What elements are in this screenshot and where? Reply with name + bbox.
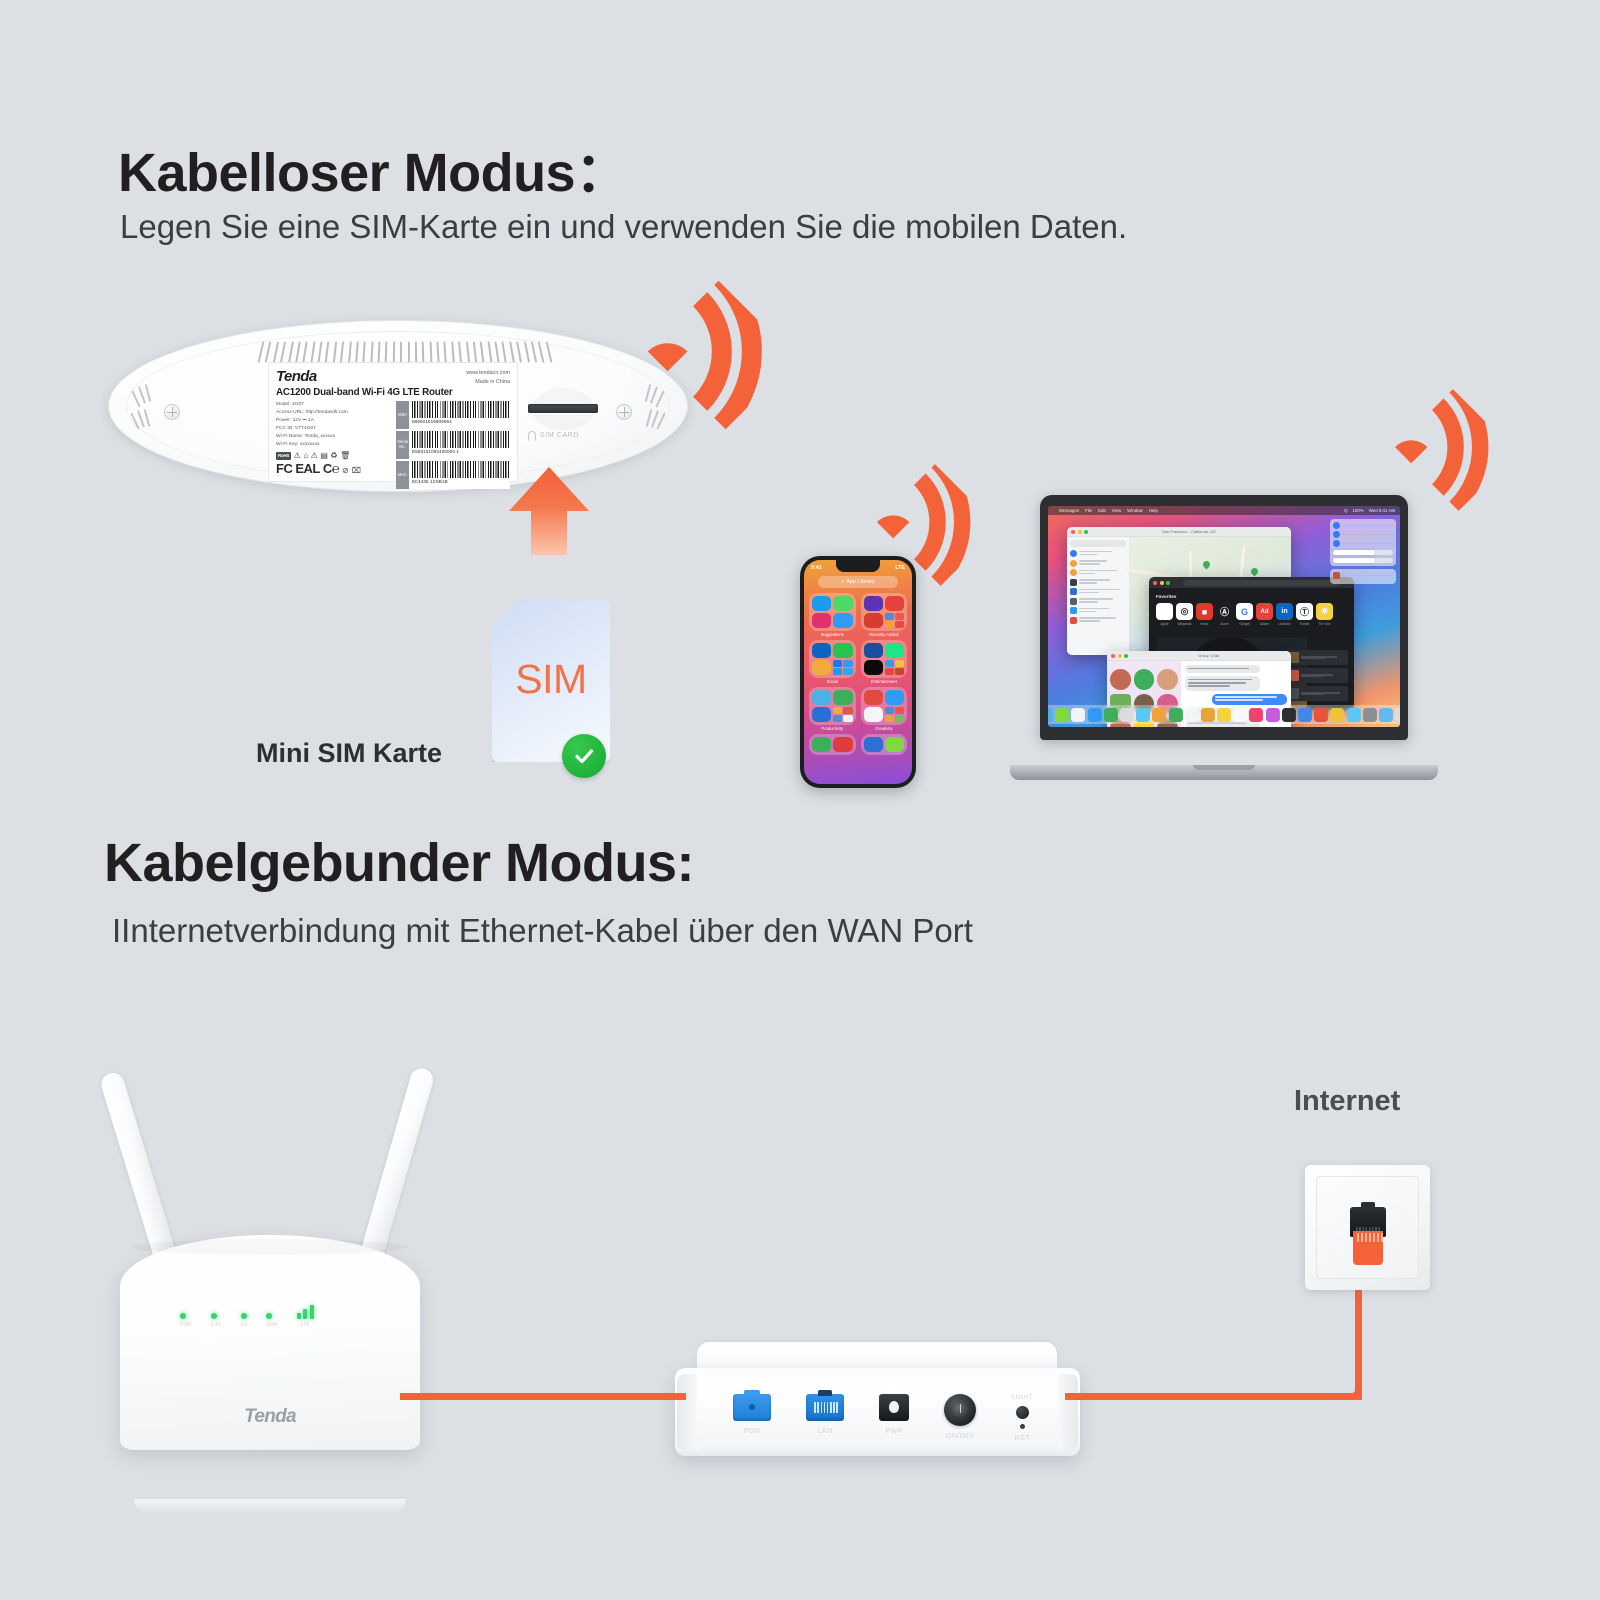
favorite-glyph: Ⓐ [1216, 603, 1233, 620]
app-group[interactable] [809, 640, 856, 678]
app-icon[interactable] [864, 643, 883, 658]
maps-sidebar[interactable] [1067, 537, 1129, 655]
window-title: Group Chat [1198, 653, 1219, 658]
led-indicator-wan: WAN [266, 1313, 277, 1328]
menubar-item-edit[interactable]: Edit [1098, 508, 1106, 513]
barcode-number: 8C4435 1C6B1B [412, 479, 510, 484]
favorite-glyph: ■ [1196, 603, 1213, 620]
dock-icon-messages[interactable] [1104, 708, 1118, 722]
search-icon: ⌕ [841, 579, 844, 586]
app-folder-icon[interactable] [885, 660, 904, 675]
app-folder-icon[interactable] [885, 707, 904, 722]
maps-list-item[interactable] [1070, 598, 1126, 605]
router-4g-brand: Tenda [120, 1406, 420, 1428]
label-barcode-group: IMEI 869601016809654 Serial No. E5591010… [396, 401, 510, 491]
app-group-caption: Productivity [809, 726, 856, 731]
app-icon[interactable] [812, 613, 831, 628]
favorite-glyph: G [1236, 603, 1253, 620]
battery-indicator[interactable]: 100% [1352, 508, 1363, 513]
app-icon[interactable] [833, 643, 852, 658]
router-vent-top [257, 342, 552, 363]
eac-mark-icon: EAL [295, 462, 320, 475]
infographic-stage: Kabelloser Modus： Legen Sie eine SIM-Kar… [0, 0, 1600, 1600]
dock-icon-music[interactable] [1249, 708, 1263, 722]
router-screw-left [164, 404, 180, 420]
dock-icon-reminders[interactable] [1201, 708, 1215, 722]
dock-icon-appstore[interactable] [1298, 708, 1312, 722]
phone-status-indicators: LTE [895, 565, 905, 571]
led-indicator-power: PWR [180, 1313, 192, 1328]
control-center-card[interactable] [1330, 519, 1396, 566]
barcode-row: Serial No. E559101092400000 1 [396, 431, 510, 459]
favorite-tile[interactable]: ⓉTumblr [1296, 603, 1313, 626]
barcode-body: E559101092400000 1 [409, 431, 510, 459]
app-icon[interactable] [864, 596, 883, 611]
dock-icon-finder[interactable] [1048, 708, 1053, 722]
map-pin-icon[interactable] [1250, 567, 1260, 577]
maps-list-item[interactable] [1070, 579, 1126, 586]
label-spec-power: Power: 12V ⎓ 1A [276, 417, 392, 425]
control-toggle-airdrop[interactable] [1333, 540, 1393, 547]
router-vent-left [134, 386, 160, 438]
app-library-row: Suggestions Recently Added [809, 593, 907, 637]
app-icon[interactable] [885, 737, 904, 752]
phone-status-time: 9:41 [811, 565, 822, 571]
dock-icon-pages[interactable] [1330, 708, 1344, 722]
smartphone-device: 9:41 LTE ⌕ App Library Sugges [800, 556, 916, 788]
power-jack-icon[interactable] [879, 1394, 909, 1421]
maps-list-item[interactable] [1070, 607, 1126, 614]
control-toggle-wifi[interactable] [1333, 522, 1393, 529]
favorite-tile[interactable]: ■News [1196, 603, 1213, 626]
app-icon[interactable] [812, 596, 831, 611]
led-label: 2.4G [211, 1322, 222, 1328]
signal-strength-icon [297, 1305, 314, 1319]
favorite-tile[interactable]: Apple [1156, 603, 1173, 626]
router-top-highlight [132, 1239, 408, 1255]
label-spec-fccid: FCC ID: V7T4G07 [276, 425, 392, 433]
maps-list-item[interactable] [1070, 569, 1126, 576]
barcode-body: 869601016809654 [409, 401, 510, 429]
dock-icon-safari[interactable] [1071, 708, 1085, 722]
label-product-title: AC1200 Dual-band Wi-Fi 4G LTE Router [276, 387, 510, 398]
barcode-tag: MAC [396, 461, 409, 489]
app-library-search-placeholder: App Library [846, 579, 875, 585]
dock-icon-facetime[interactable] [1152, 708, 1166, 722]
macos-dock[interactable] [1048, 705, 1400, 724]
maps-search-input[interactable] [1070, 540, 1126, 547]
label-spec-list: Model: 4G07 Access URL: http://tendawifi… [276, 401, 392, 491]
barcode-bars [412, 431, 510, 448]
maps-list-item[interactable] [1070, 560, 1126, 567]
ce-mark-icon: C℮ [323, 462, 339, 475]
sim-card-caption: Mini SIM Karte [256, 738, 442, 769]
window-titlebar[interactable]: San Francisco - California, US [1067, 527, 1291, 537]
ont-bevel-right [1058, 1374, 1078, 1450]
app-group-wrap[interactable]: Productivity [809, 687, 856, 731]
house-icon: ⌂ [303, 452, 308, 460]
favorite-glyph: Ad [1256, 603, 1273, 620]
label-spec-wifikey: Wi-Fi Key: xxxxxxxx [276, 441, 392, 449]
favorite-name: Wikipedia [1176, 622, 1193, 626]
now-playing-row[interactable] [1333, 572, 1393, 579]
favorite-glyph: in [1276, 603, 1293, 620]
favorite-name: Acme [1216, 622, 1233, 626]
app-icon[interactable] [812, 737, 831, 752]
dock-icon-podcasts[interactable] [1266, 708, 1280, 722]
sim-eject-pin-icon [528, 431, 536, 441]
plug-pins-icon [1357, 1233, 1383, 1242]
router-vent-right [636, 386, 662, 438]
reset-pinhole-icon[interactable] [1020, 1424, 1025, 1429]
app-icon[interactable] [833, 596, 852, 611]
barcode-row: MAC 8C4435 1C6B1B [396, 461, 510, 489]
dock-icon-launchpad[interactable] [1055, 708, 1069, 722]
display-brightness-slider[interactable] [1333, 550, 1393, 555]
favorite-glyph: Ⓣ [1296, 603, 1313, 620]
barcode-number: 869601016809654 [412, 419, 510, 424]
ethernet-plug[interactable] [1353, 1231, 1383, 1265]
app-icon[interactable] [885, 643, 904, 658]
ont-bevel-left [677, 1374, 697, 1450]
certification-icons-row-1: RoHS ⚠ ⌂ ⚠ ▤ ♻ 🗑 [276, 452, 392, 460]
router-product-label: Tenda www.tendacn.com Made in China AC12… [268, 362, 518, 482]
wired-mode-heading: Kabelgebunder Modus: [104, 832, 694, 894]
window-title: San Francisco - California, US [1162, 529, 1216, 534]
sim-insert-arrow-icon [505, 465, 593, 555]
port-power[interactable]: PWR [879, 1394, 909, 1435]
router-bottom-shell-view: SIM CARD Tenda www.tendacn.com Made in C… [108, 320, 688, 492]
favorite-tile[interactable]: ◎Wikipedia [1176, 603, 1193, 626]
menubar-item-view[interactable]: View [1112, 508, 1121, 513]
router-led-panel: PWR 2.4G 5G WAN LTE [180, 1305, 314, 1328]
led-indicator-24g: 2.4G [211, 1313, 222, 1328]
close-icon[interactable] [1111, 654, 1115, 658]
port-label: LAN [806, 1428, 844, 1435]
app-library-row: Productivity Creativity [809, 687, 907, 731]
favorite-name: Apple [1156, 622, 1173, 626]
app-group-wrap[interactable]: Recently Added [861, 593, 908, 637]
pon-port-icon[interactable] [733, 1394, 771, 1421]
label-origin: Made in China [466, 378, 510, 387]
app-group-wrap[interactable]: Suggestions [809, 593, 856, 637]
minimize-icon[interactable] [1118, 654, 1122, 658]
dock-icon-notes[interactable] [1217, 708, 1231, 722]
led-label: LTE [297, 1322, 314, 1328]
maps-list-item[interactable] [1070, 588, 1126, 595]
app-library-search-field[interactable]: ⌕ App Library [818, 576, 898, 588]
menubar-app-name[interactable]: Messages [1059, 508, 1079, 513]
light-button-icon[interactable] [1016, 1406, 1029, 1419]
manual-icon: ▤ [320, 452, 328, 460]
dock-icon-maps[interactable] [1120, 708, 1134, 722]
app-icon[interactable] [833, 690, 852, 705]
favorite-glyph [1156, 603, 1173, 620]
maps-list-item[interactable] [1070, 550, 1126, 557]
label-spec-url: Access URL: http://tendawifi.com [276, 409, 392, 417]
sim-slot-label: SIM CARD [540, 432, 579, 439]
ont-modem-device: PON LAN PWR ON/OFF LIGHT [675, 1342, 1080, 1487]
power-button-icon[interactable] [944, 1394, 976, 1426]
barcode-body: 8C4435 1C6B1B [409, 461, 510, 489]
barcode-number: E559101092400000 1 [412, 449, 510, 454]
certification-icons-row-2: FC EAL C℮ ⊘ ⌧ [276, 462, 392, 475]
favorite-tile[interactable]: GGoogle [1236, 603, 1253, 626]
phone-notch [836, 560, 880, 572]
dock-icon-downloads[interactable] [1379, 708, 1393, 722]
dock-icon-news[interactable] [1282, 708, 1296, 722]
favorite-name: Tumblr [1296, 622, 1313, 626]
laptop-lid: Messages File Edit View Window Help Q 10… [1040, 495, 1408, 740]
app-group[interactable] [861, 734, 908, 755]
dock-icon-numbers[interactable] [1314, 708, 1328, 722]
ont-front-panel: PON LAN PWR ON/OFF LIGHT [675, 1368, 1080, 1456]
app-icon[interactable] [812, 690, 831, 705]
app-group[interactable] [809, 687, 856, 725]
app-icon[interactable] [864, 690, 883, 705]
safari-favorites-row: Apple ◎Wikipedia ■News ⒶAcme GGoogle AdA… [1156, 603, 1347, 626]
label-website: www.tendacn.com [466, 369, 510, 378]
favorite-tile[interactable]: inLinkedIn [1276, 603, 1293, 626]
laptop-screen: Messages File Edit View Window Help Q 10… [1048, 506, 1400, 727]
favorite-tile[interactable]: ⒶAcme [1216, 603, 1233, 626]
app-group[interactable] [809, 593, 856, 631]
wall-ethernet-socket [1305, 1165, 1430, 1290]
app-icon[interactable] [812, 707, 831, 722]
port-pon[interactable]: PON [733, 1394, 771, 1435]
port-label: ON/OFF [944, 1433, 976, 1440]
weee-bin-icon: 🗑 [340, 452, 350, 460]
avatar[interactable] [1157, 669, 1178, 690]
dock-icon-trash[interactable] [1395, 708, 1400, 722]
safari-address-bar[interactable] [1183, 580, 1341, 586]
avatar[interactable] [1134, 669, 1155, 690]
port-label: RST [1015, 1435, 1030, 1442]
laptop-device: Messages File Edit View Window Help Q 10… [1010, 495, 1438, 780]
label-body: Model: 4G07 Access URL: http://tendawifi… [276, 401, 510, 491]
minimize-icon[interactable] [1078, 530, 1082, 534]
dock-icon-settings[interactable] [1363, 708, 1377, 722]
rohs-badge: RoHS [276, 452, 291, 460]
app-group[interactable] [861, 687, 908, 725]
favorite-name: News [1196, 622, 1213, 626]
led-label: 5G [241, 1322, 248, 1328]
port-label: PWR [879, 1428, 909, 1435]
maximize-icon[interactable] [1124, 654, 1128, 658]
laptop-base [1010, 765, 1438, 780]
barcode-row: IMEI 869601016809654 [396, 401, 510, 429]
control-toggle-bluetooth[interactable] [1333, 531, 1393, 538]
app-library-row: Social Entertainment [809, 640, 907, 684]
recycle-icon: ♻ [330, 452, 337, 460]
power-switch[interactable]: ON/OFF [944, 1394, 976, 1440]
rj45-port-icon[interactable] [806, 1394, 844, 1421]
spotlight-search-icon[interactable]: Q [1344, 508, 1347, 513]
router-sim-slot-area: SIM CARD [524, 388, 604, 460]
router-4g-body: PWR 2.4G 5G WAN LTE Tenda [120, 1235, 420, 1450]
maps-list-item[interactable] [1070, 617, 1126, 624]
app-icon[interactable] [885, 596, 904, 611]
ethernet-cable-modem-to-wall-horizontal [1065, 1393, 1362, 1400]
app-group-caption: Recently Added [861, 632, 908, 637]
app-icon[interactable] [833, 737, 852, 752]
avatar[interactable] [1110, 669, 1131, 690]
label-spec-wifiname: Wi-Fi Name: Tenda_xxxxxx [276, 433, 392, 441]
dock-icon-appletv[interactable] [1233, 708, 1247, 722]
safari-favorites-title: Favorites [1156, 594, 1347, 599]
wired-mode-subheading: IInternetverbindung mit Ethernet-Kabel ü… [112, 912, 973, 950]
wireless-mode-heading: Kabelloser Modus： [118, 128, 629, 207]
app-library-grid: Suggestions Recently Added [809, 593, 907, 782]
safari-toolbar[interactable] [1149, 577, 1354, 588]
router-4g-device: PWR 2.4G 5G WAN LTE Tenda [110, 1055, 430, 1505]
favorite-glyph: ◎ [1176, 603, 1193, 620]
message-bubble-incoming [1185, 665, 1260, 673]
dock-icon-mail[interactable] [1088, 708, 1102, 722]
light-button-label: LIGHT [1012, 1394, 1033, 1401]
favorite-name: Adobe [1256, 622, 1273, 626]
router-screw-right [616, 404, 632, 420]
close-icon[interactable] [1153, 581, 1157, 585]
app-group-wrap[interactable]: Entertainment [861, 640, 908, 684]
router-4g-base [134, 1499, 406, 1511]
led-label: WAN [266, 1322, 277, 1328]
app-group-caption: Social [809, 679, 856, 684]
sim-card-text: SIM [492, 656, 610, 703]
dock-icon-contacts[interactable] [1168, 708, 1182, 722]
app-folder-icon[interactable] [885, 613, 904, 628]
ont-port-row: PON LAN PWR ON/OFF LIGHT [733, 1394, 1033, 1442]
led-indicator-signal: LTE [297, 1305, 314, 1328]
volume-slider[interactable] [1333, 558, 1393, 563]
led-label: PWR [180, 1322, 192, 1328]
minimize-icon[interactable] [1160, 581, 1164, 585]
dock-icon-xcode[interactable] [1347, 708, 1361, 722]
app-group[interactable] [809, 734, 856, 755]
barcode-tag: Serial No. [396, 431, 409, 459]
app-group-wrap[interactable]: Creativity [861, 687, 908, 731]
caution-icon: ⚠ [311, 452, 318, 460]
favorite-tile[interactable]: AdAdobe [1256, 603, 1273, 626]
barcode-tag: IMEI [396, 401, 409, 429]
menubar-item-file[interactable]: File [1085, 508, 1092, 513]
app-icon[interactable] [864, 707, 883, 722]
app-group-caption: Creativity [861, 726, 908, 731]
message-bubble-incoming [1185, 676, 1260, 691]
app-group[interactable] [861, 593, 908, 631]
barcode-bars [412, 461, 510, 478]
antenna-right [357, 1066, 436, 1269]
sim-compatible-check-icon [562, 734, 606, 778]
sim-card-slot[interactable] [528, 404, 598, 413]
maximize-icon[interactable] [1166, 581, 1170, 585]
crossed-bin-icon: ⌧ [352, 467, 361, 475]
fcc-mark-icon: FC [276, 462, 292, 475]
wireless-mode-subheading: Legen Sie eine SIM-Karte ein und verwend… [120, 208, 1127, 246]
macos-menu-bar[interactable]: Messages File Edit View Window Help Q 10… [1048, 506, 1400, 515]
favorite-name: Google [1236, 622, 1253, 626]
menubar-item-window[interactable]: Window [1127, 508, 1143, 513]
app-group-caption: Suggestions [809, 632, 856, 637]
led-indicator-5g: 5G [241, 1313, 248, 1328]
app-icon[interactable] [864, 660, 883, 675]
notification-center-panel[interactable] [1326, 515, 1400, 705]
warning-triangle-icon: ⚠ [294, 452, 301, 460]
window-titlebar[interactable]: Group Chat [1107, 651, 1291, 661]
message-bubble-outgoing [1212, 694, 1287, 705]
light-and-reset-group[interactable]: LIGHT RST [1012, 1394, 1033, 1442]
app-group-wrap[interactable]: Social [809, 640, 856, 684]
e-mark-icon: ⊘ [342, 467, 349, 475]
app-folder-icon[interactable] [833, 707, 852, 722]
app-group-caption: Entertainment [861, 679, 908, 684]
maximize-icon[interactable] [1084, 530, 1088, 534]
app-icon[interactable] [864, 613, 883, 628]
ethernet-cable-router-to-modem [400, 1393, 686, 1400]
map-pin-icon[interactable] [1202, 560, 1212, 570]
favorite-name: LinkedIn [1276, 622, 1293, 626]
app-library-row [809, 734, 907, 755]
app-icon[interactable] [812, 660, 831, 675]
app-icon[interactable] [812, 643, 831, 658]
port-lan[interactable]: LAN [806, 1394, 844, 1435]
phone-screen: 9:41 LTE ⌕ App Library Sugges [804, 560, 912, 784]
app-icon[interactable] [833, 613, 852, 628]
barcode-bars [412, 401, 510, 418]
now-playing-card[interactable] [1330, 569, 1396, 584]
app-group[interactable] [861, 640, 908, 678]
app-icon[interactable] [885, 690, 904, 705]
close-icon[interactable] [1071, 530, 1075, 534]
menubar-clock[interactable]: Wed 9:41 AM [1369, 508, 1395, 513]
app-icon[interactable] [864, 737, 883, 752]
menubar-status-area[interactable]: Q 100% Wed 9:41 AM [1344, 508, 1395, 513]
label-website-block: www.tendacn.com Made in China [466, 369, 510, 386]
internet-label: Internet [1294, 1085, 1400, 1118]
dock-icon-photos[interactable] [1136, 708, 1150, 722]
app-folder-icon[interactable] [833, 660, 852, 675]
port-label: PON [733, 1428, 771, 1435]
laptop-base-notch [1193, 765, 1255, 770]
menubar-item-help[interactable]: Help [1149, 508, 1158, 513]
ethernet-cable-corner [1338, 1376, 1362, 1400]
label-spec-model: Model: 4G07 [276, 401, 392, 409]
dock-icon-calendar[interactable] [1185, 708, 1199, 722]
